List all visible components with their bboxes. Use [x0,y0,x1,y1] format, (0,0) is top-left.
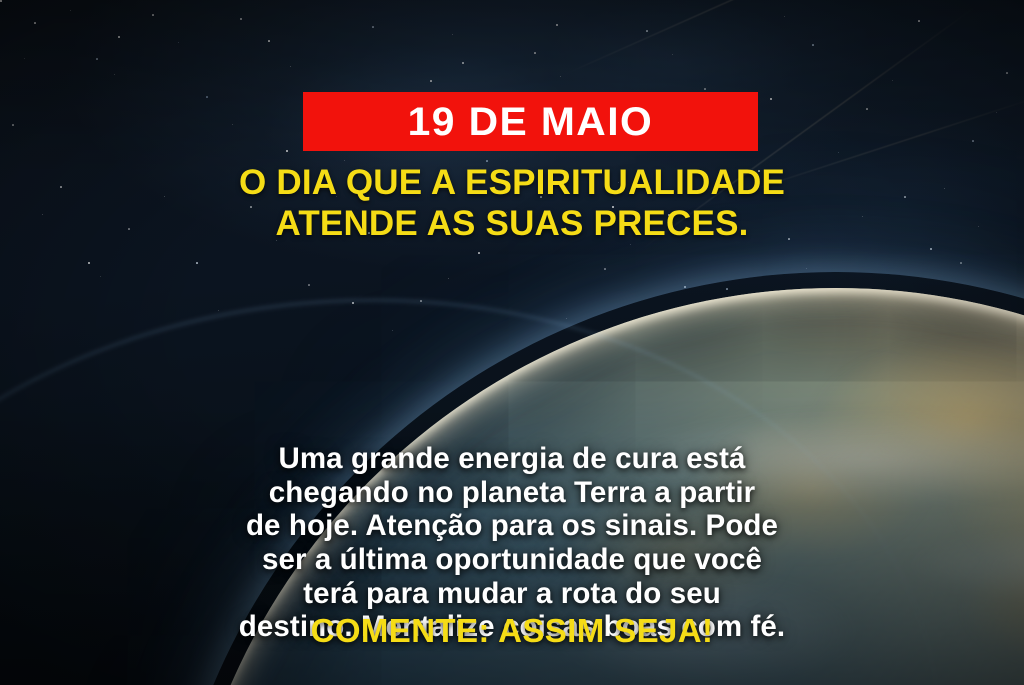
poster-content: 19 DE MAIO O DIA QUE A ESPIRITUALIDADE A… [0,0,1024,685]
body-line-5: terá para mudar a rota do seu [0,577,1024,611]
headline-line-1: O DIA QUE A ESPIRITUALIDADE [0,163,1024,204]
date-banner: 19 DE MAIO [303,92,758,151]
body-line-1: Uma grande energia de cura está [0,442,1024,476]
call-to-action-text: COMENTE: ASSIM SEJA! [0,612,1024,650]
body-line-2: chegando no planeta Terra a partir [0,476,1024,510]
body-line-3: de hoje. Atenção para os sinais. Pode [0,509,1024,543]
date-banner-text: 19 DE MAIO [408,102,654,142]
body-line-4: ser a última oportunidade que você [0,543,1024,577]
headline: O DIA QUE A ESPIRITUALIDADE ATENDE AS SU… [0,163,1024,244]
headline-line-2: ATENDE AS SUAS PRECES. [0,204,1024,245]
poster-canvas: 19 DE MAIO O DIA QUE A ESPIRITUALIDADE A… [0,0,1024,685]
